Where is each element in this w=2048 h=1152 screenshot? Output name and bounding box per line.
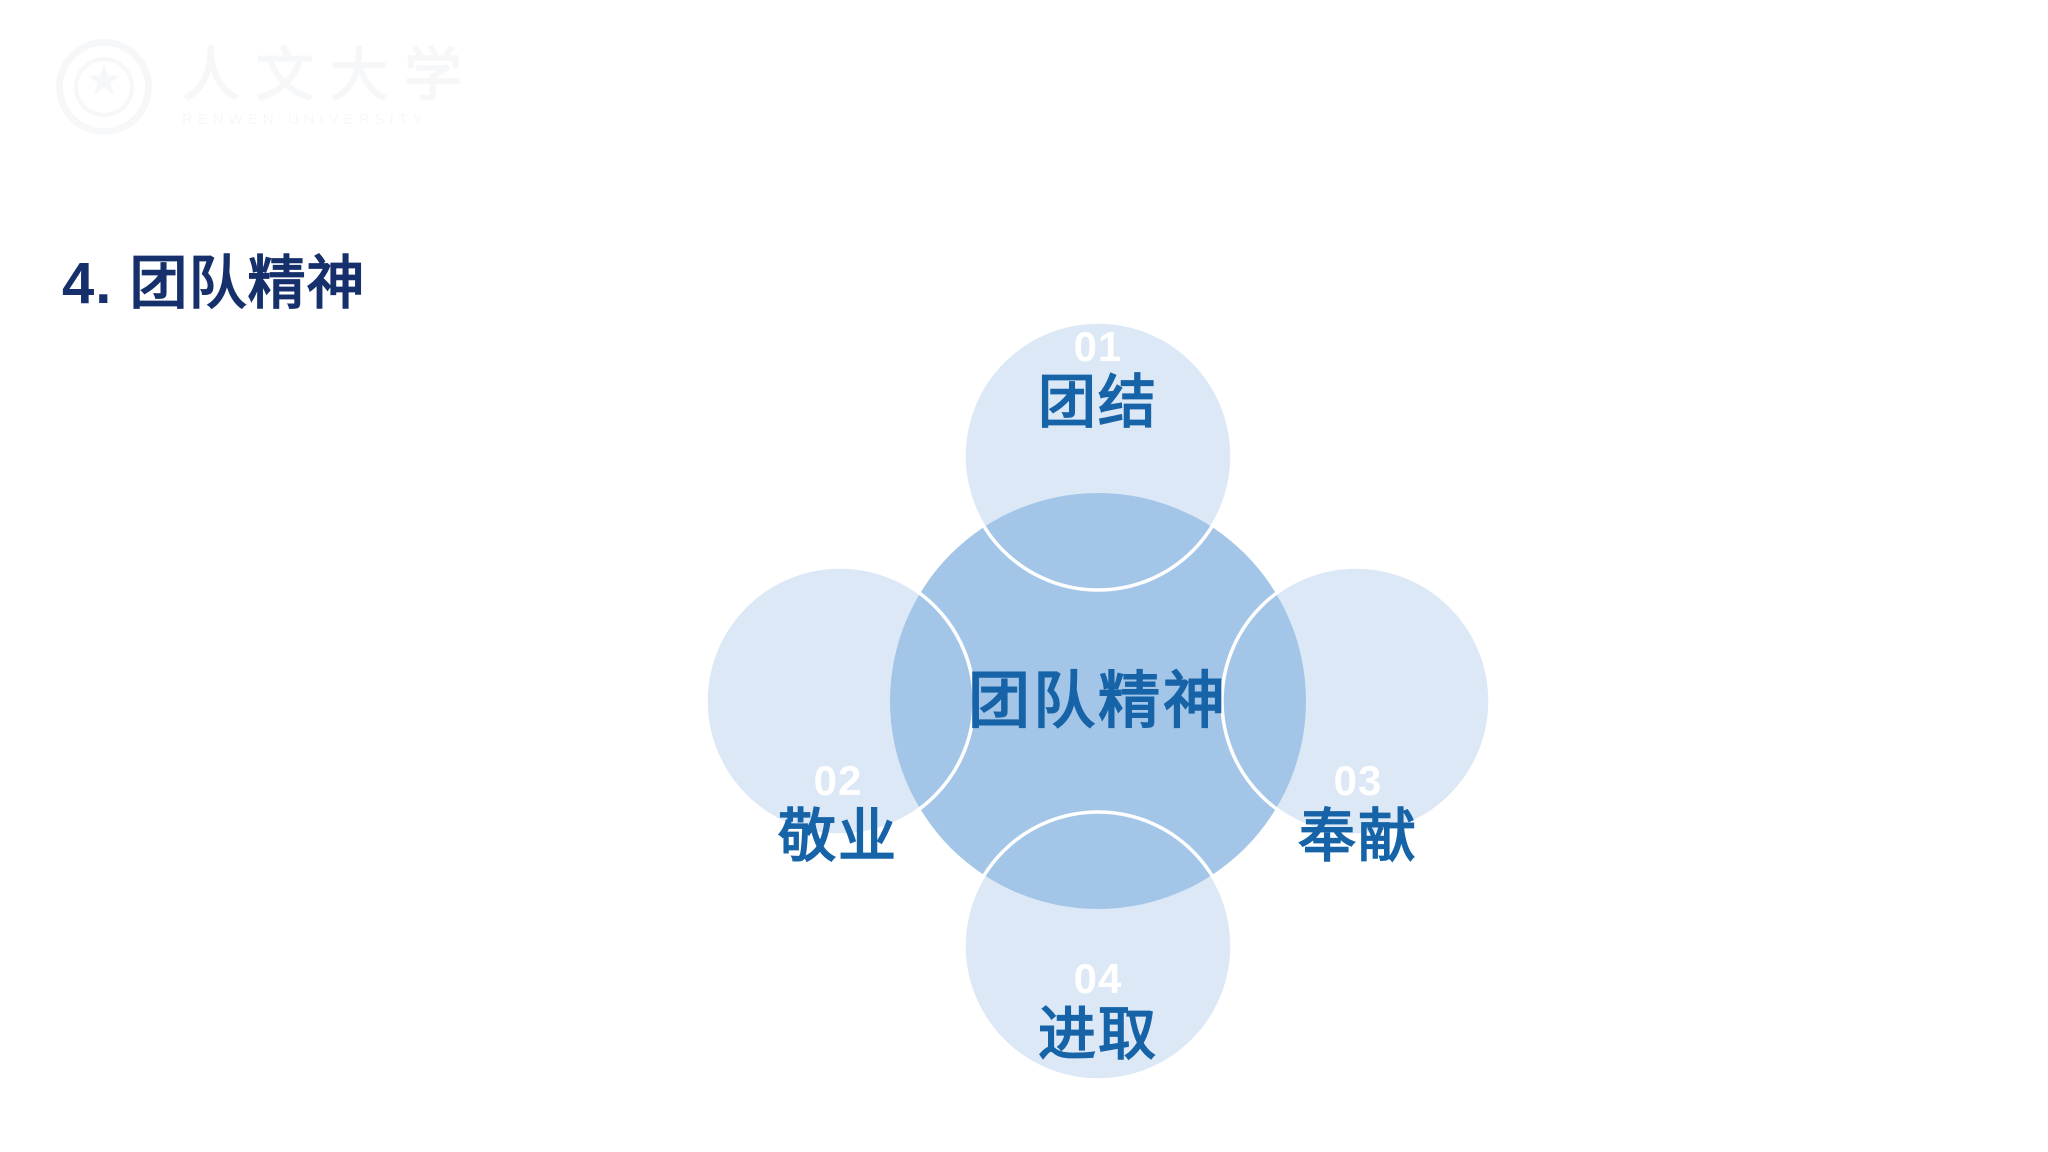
watermark-wordmark: 人文大学 RENWEN UNIVERSITY <box>182 46 478 128</box>
watermark-cn-text: 人文大学 <box>182 46 478 107</box>
diagram-svg <box>688 298 1508 1104</box>
watermark: 人文大学 RENWEN UNIVERSITY <box>52 22 772 152</box>
watermark-en-text: RENWEN UNIVERSITY <box>182 111 478 128</box>
center-circle[interactable] <box>890 493 1306 909</box>
page-title: 4. 团队精神 <box>62 236 366 320</box>
university-emblem-icon <box>52 35 156 139</box>
team-spirit-diagram: 01 团结 02 敬业 03 奉献 04 进取 团队精神 <box>688 298 1508 1104</box>
